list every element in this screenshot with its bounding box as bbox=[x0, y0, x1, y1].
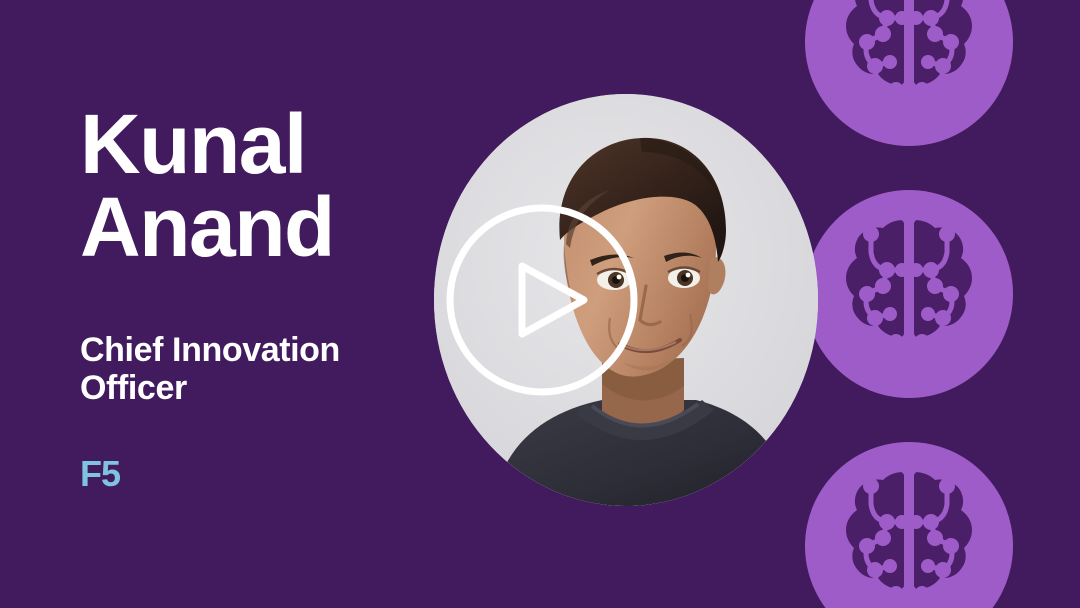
play-button-ring bbox=[450, 208, 634, 392]
speaker-video-card: Kunal Anand Chief Innovation Officer F5 bbox=[0, 0, 1080, 608]
brain-circuit-icon-middle bbox=[805, 190, 1013, 398]
speaker-info-block: Kunal Anand Chief Innovation Officer F5 bbox=[80, 103, 440, 492]
brain-circuit-icon-top bbox=[805, 0, 1013, 146]
play-triangle-icon bbox=[522, 266, 584, 334]
speaker-name: Kunal Anand bbox=[80, 103, 440, 269]
brain-circuit-icon-bottom bbox=[805, 442, 1013, 608]
company-logo-f5: F5 bbox=[80, 456, 440, 492]
speaker-title: Chief Innovation Officer bbox=[80, 331, 440, 407]
play-button[interactable] bbox=[442, 200, 642, 400]
